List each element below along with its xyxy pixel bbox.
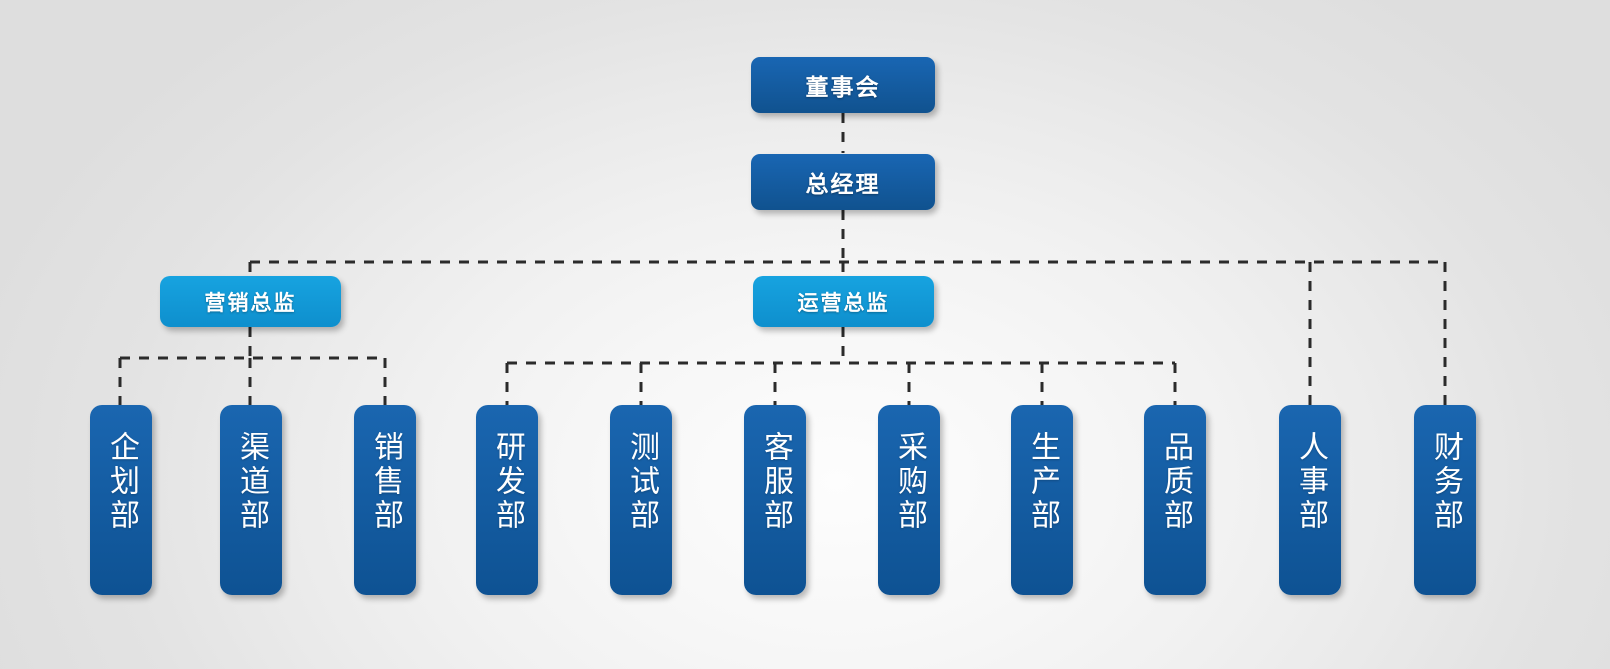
node-department[interactable]: 财务部 xyxy=(1414,405,1476,595)
node-department[interactable]: 渠道部 xyxy=(220,405,282,595)
org-chart: 董事会 总经理 营销总监 运营总监 企划部渠道部销售部研发部测试部客服部采购部生… xyxy=(0,0,1610,669)
node-department-label: 客服部 xyxy=(760,431,790,533)
node-department-label: 采购部 xyxy=(894,431,924,533)
node-operations-director-label: 运营总监 xyxy=(798,287,890,317)
node-department[interactable]: 生产部 xyxy=(1011,405,1073,595)
node-board[interactable]: 董事会 xyxy=(751,57,935,113)
node-department[interactable]: 人事部 xyxy=(1279,405,1341,595)
node-department[interactable]: 品质部 xyxy=(1144,405,1206,595)
node-department[interactable]: 研发部 xyxy=(476,405,538,595)
node-general-manager-label: 总经理 xyxy=(806,165,881,199)
node-department[interactable]: 企划部 xyxy=(90,405,152,595)
node-department[interactable]: 销售部 xyxy=(354,405,416,595)
node-department-label: 渠道部 xyxy=(236,431,266,533)
node-department-label: 销售部 xyxy=(370,431,400,533)
node-department-label: 研发部 xyxy=(492,431,522,533)
node-general-manager[interactable]: 总经理 xyxy=(751,154,935,210)
node-marketing-director-label: 营销总监 xyxy=(205,287,297,317)
node-department[interactable]: 客服部 xyxy=(744,405,806,595)
node-department-label: 品质部 xyxy=(1160,431,1190,533)
node-department[interactable]: 采购部 xyxy=(878,405,940,595)
node-department-label: 测试部 xyxy=(626,431,656,533)
node-board-label: 董事会 xyxy=(806,68,881,102)
node-department-label: 财务部 xyxy=(1430,431,1460,533)
node-department-label: 企划部 xyxy=(106,431,136,533)
node-department-label: 人事部 xyxy=(1295,431,1325,533)
node-operations-director[interactable]: 运营总监 xyxy=(753,276,934,327)
node-marketing-director[interactable]: 营销总监 xyxy=(160,276,341,327)
node-department[interactable]: 测试部 xyxy=(610,405,672,595)
node-department-label: 生产部 xyxy=(1027,431,1057,533)
